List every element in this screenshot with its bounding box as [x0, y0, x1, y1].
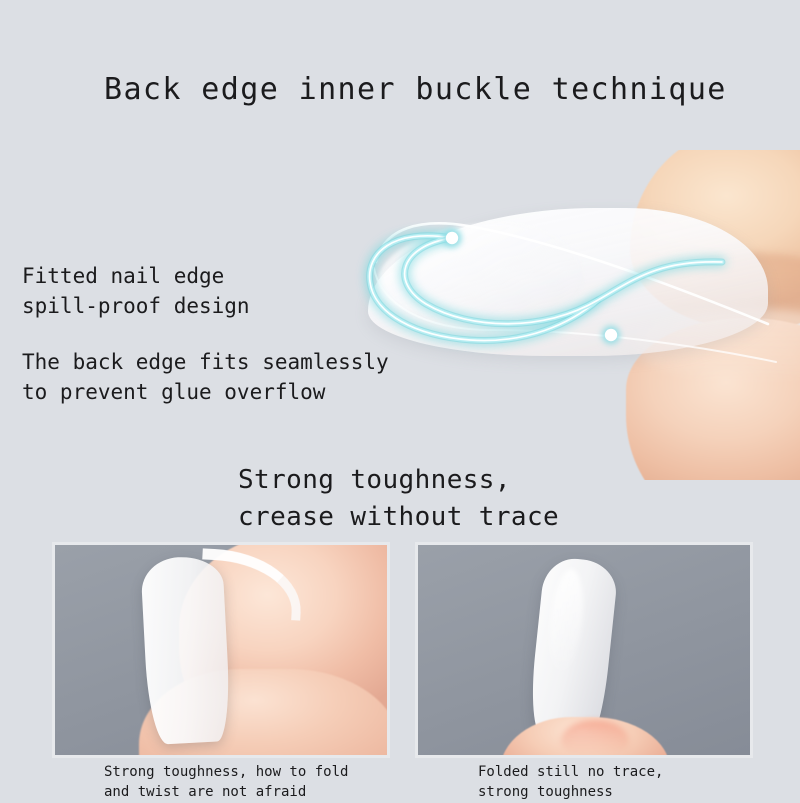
caption-no-trace-demo: Folded still no trace, strong toughness [478, 762, 663, 803]
panel-fold-demo [55, 545, 387, 755]
page-title: Back edge inner buckle technique [104, 72, 727, 107]
hero-image [330, 150, 800, 480]
product-infographic: Back edge inner buckle technique Fitted … [0, 0, 800, 800]
caption-fold-demo: Strong toughness, how to fold and twist … [104, 762, 348, 803]
nail-tip [368, 208, 768, 356]
panel-no-trace-demo [418, 545, 750, 755]
feature-fitted-edge-text: Fitted nail edge spill-proof design [22, 262, 250, 322]
